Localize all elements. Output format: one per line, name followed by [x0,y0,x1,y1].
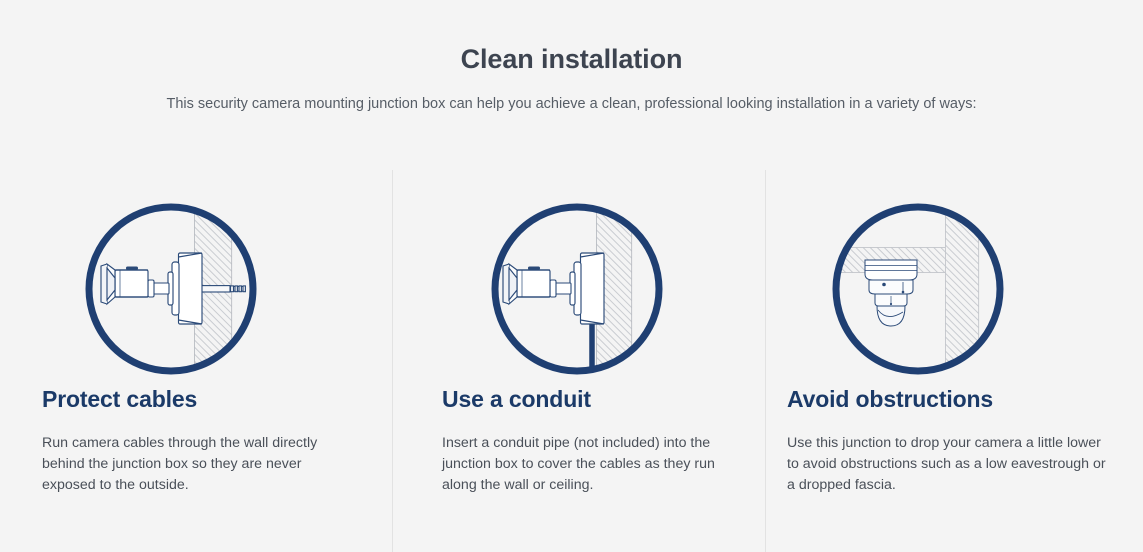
bullet-camera-on-junction-box-with-cable-through-wall-icon [82,200,260,378]
section-header: Clean installation This security camera … [0,0,1143,114]
illustration-container [442,170,737,385]
card-title: Use a conduit [442,385,737,413]
page-title: Clean installation [0,0,1143,75]
feature-card-protect-cables: Protect cables Run camera cables through… [0,170,392,552]
illustration-container [787,170,1113,385]
card-body: Run camera cables through the wall direc… [42,413,350,496]
feature-card-avoid-obstructions: Avoid obstructions Use this junction to … [765,170,1143,552]
clean-installation-section: Clean installation This security camera … [0,0,1143,552]
card-title: Avoid obstructions [787,385,1113,413]
feature-columns: Protect cables Run camera cables through… [0,170,1143,552]
card-title: Protect cables [42,385,350,413]
card-body: Use this junction to drop your camera a … [787,413,1113,496]
bullet-camera-on-junction-box-with-conduit-pipe-icon [488,200,666,378]
card-body: Insert a conduit pipe (not included) int… [442,413,737,496]
dome-camera-dropped-below-eave-icon [829,200,1007,378]
illustration-container [42,170,350,385]
feature-card-use-a-conduit: Use a conduit Insert a conduit pipe (not… [392,170,765,552]
page-subtitle: This security camera mounting junction b… [0,75,1143,114]
